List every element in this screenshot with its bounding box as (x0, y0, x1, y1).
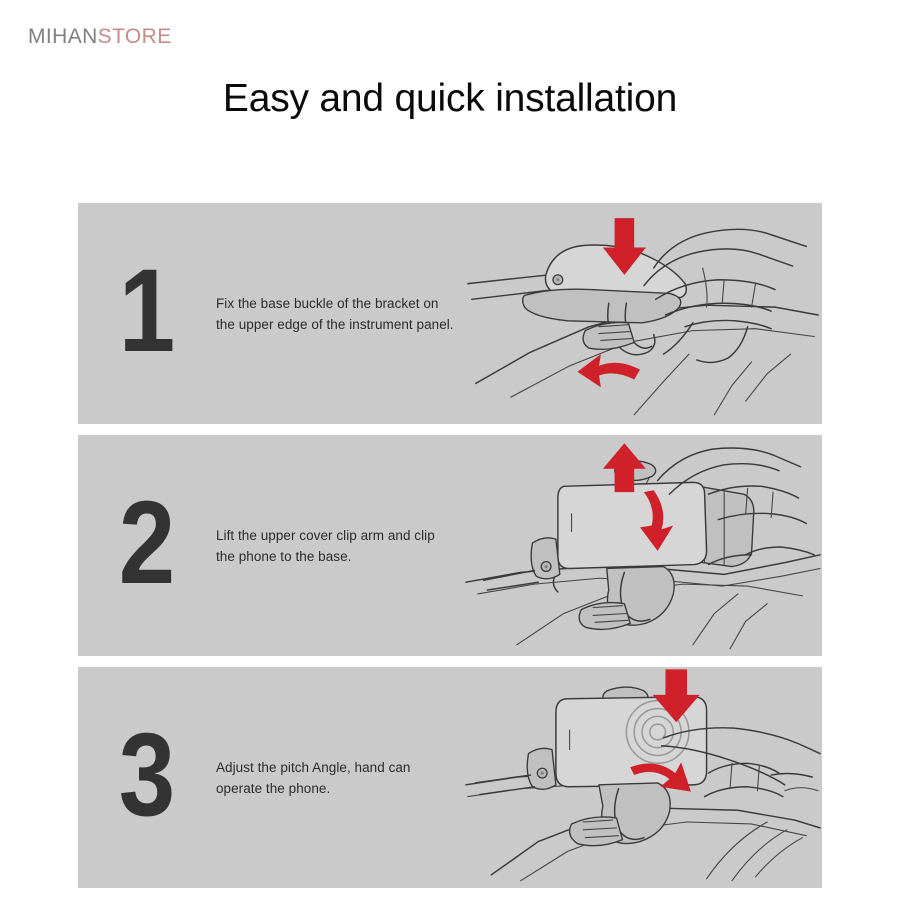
step-number-3: 3 (88, 667, 207, 888)
brand-logo: MIHANSTORE (28, 26, 172, 47)
step-number-1: 1 (88, 203, 207, 424)
brand-logo-primary: MIHAN (28, 25, 98, 48)
bracket-install-diagram-icon (462, 203, 822, 424)
step-number-2: 2 (88, 435, 207, 656)
step-illustration-1 (462, 203, 822, 424)
step-panel-1: 1 Fix the base buckle of the bracket on … (78, 203, 822, 424)
step-illustration-3 (462, 667, 822, 888)
page-title: Easy and quick installation (0, 78, 900, 121)
step-panel-3: 3 Adjust the pitch Angle, hand can opera… (78, 667, 822, 888)
brand-logo-secondary: STORE (98, 25, 172, 48)
step-text-3: Adjust the pitch Angle, hand can operate… (216, 667, 462, 888)
installation-steps-list: 1 Fix the base buckle of the bracket on … (78, 203, 822, 888)
step-text-1: Fix the base buckle of the bracket on th… (216, 203, 462, 424)
phone-clip-in-diagram-icon (462, 435, 822, 656)
step-text-2: Lift the upper cover clip arm and clip t… (216, 435, 462, 656)
step-panel-2: 2 Lift the upper cover clip arm and clip… (78, 435, 822, 656)
step-illustration-2 (462, 435, 822, 656)
touch-phone-diagram-icon (462, 667, 822, 888)
